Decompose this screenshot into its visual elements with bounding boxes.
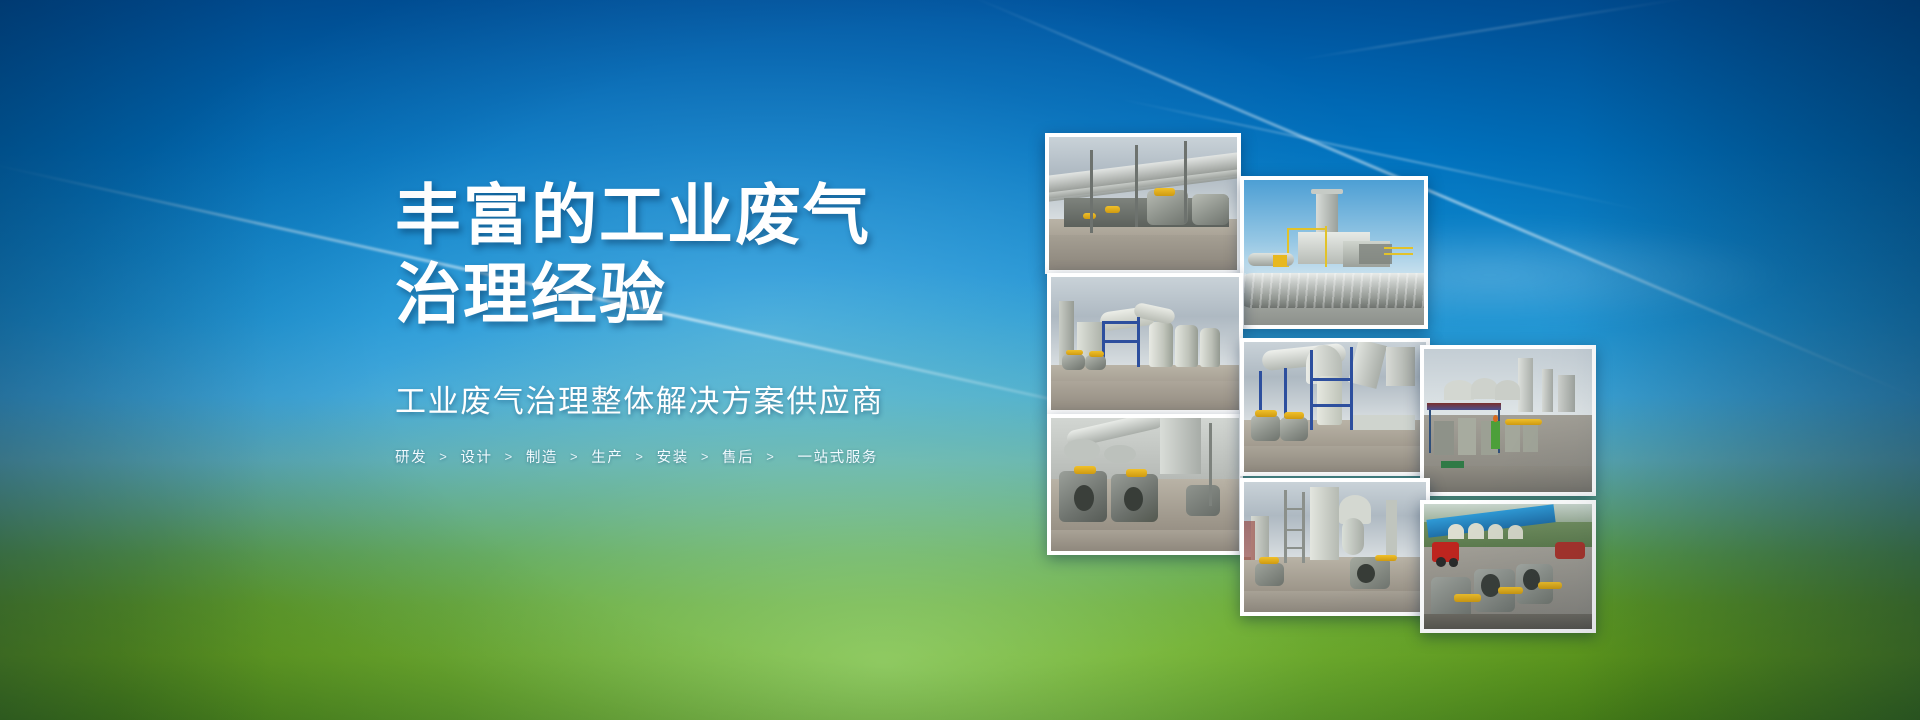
gallery-photo-scrubber-tower-array[interactable]: [1047, 273, 1243, 414]
hero-banner: 丰富的工业废气 治理经验 工业废气治理整体解决方案供应商 研发 > 设计 > 制…: [0, 0, 1920, 720]
photo-image: [1424, 349, 1592, 492]
photo-image: [1244, 482, 1426, 612]
gallery-photo-rooftop-duct-line[interactable]: [1045, 133, 1241, 274]
photo-collage: [0, 0, 1920, 720]
gallery-photo-blue-frame-duct-plant[interactable]: [1240, 338, 1430, 476]
photo-image: [1049, 137, 1237, 270]
gallery-photo-rto-incinerator-stack[interactable]: [1240, 176, 1428, 329]
photo-image: [1051, 418, 1239, 551]
gallery-photo-tall-tower-fan-yard[interactable]: [1240, 478, 1430, 616]
photo-image: [1051, 277, 1239, 410]
photo-image: [1244, 342, 1426, 472]
gallery-photo-fan-shipment-loading[interactable]: [1420, 500, 1596, 633]
gallery-photo-centrifugal-fan-row[interactable]: [1047, 414, 1243, 555]
photo-image: [1424, 504, 1592, 629]
gallery-photo-workshop-fan-install[interactable]: [1420, 345, 1596, 496]
photo-image: [1244, 180, 1424, 325]
